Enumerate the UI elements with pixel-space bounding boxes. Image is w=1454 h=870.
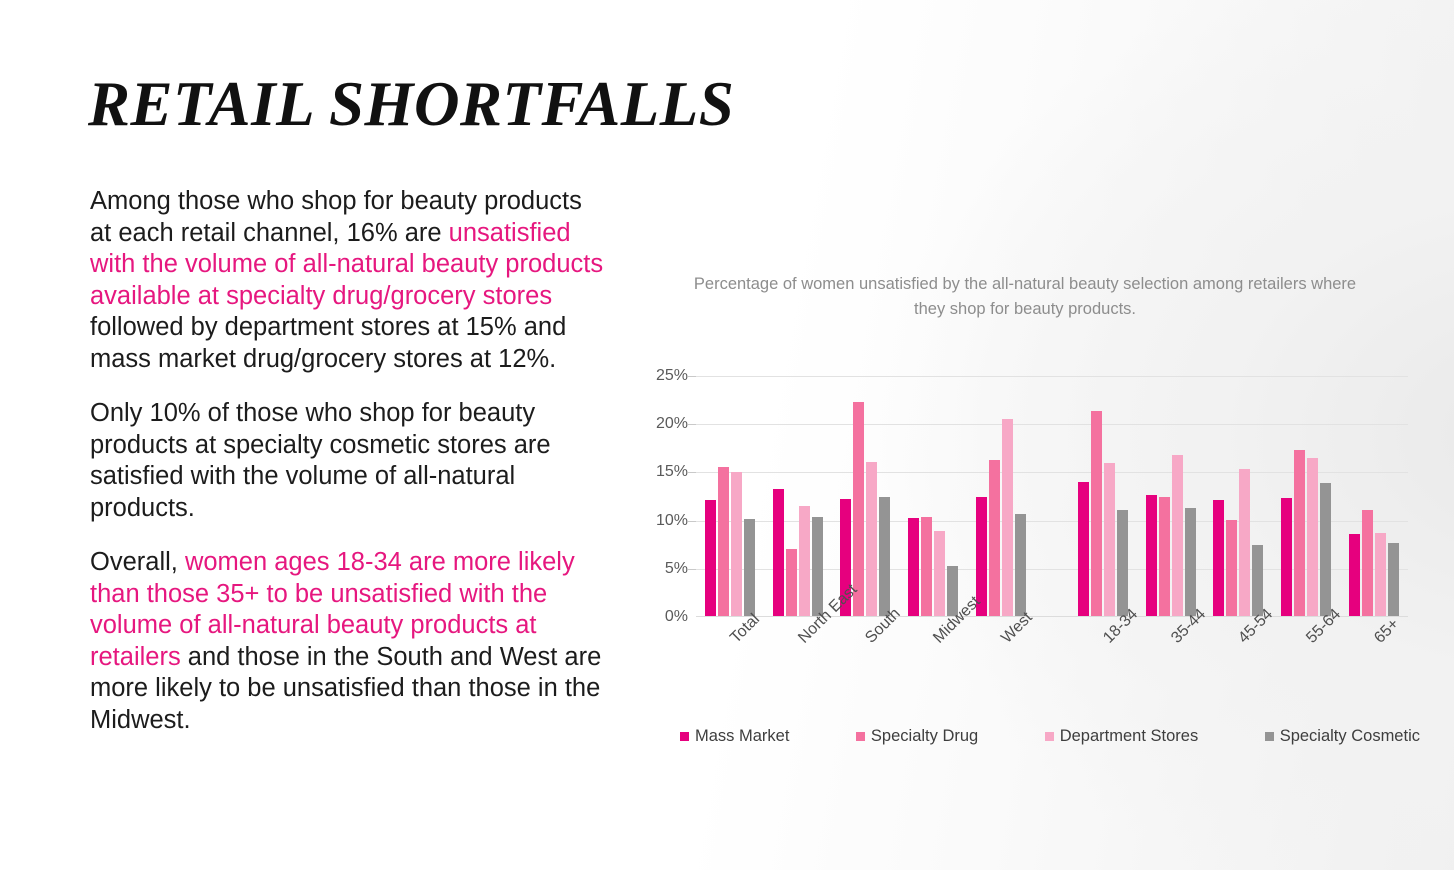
bar bbox=[989, 460, 1000, 617]
bar bbox=[879, 497, 890, 618]
bar bbox=[1117, 510, 1128, 617]
page-title: RETAIL SHORTFALLS bbox=[88, 68, 734, 141]
bar bbox=[1226, 520, 1237, 617]
body-copy: Among those who shop for beauty products… bbox=[90, 186, 610, 759]
bar bbox=[1104, 463, 1115, 617]
legend-label: Specialty Drug bbox=[871, 727, 978, 746]
bar bbox=[731, 472, 742, 617]
y-tick-label: 15% bbox=[640, 463, 688, 481]
chart-plot-area: 25%20%15%10%5%0% TotalNorth EastSouthMid… bbox=[638, 376, 1408, 636]
bar bbox=[1002, 419, 1013, 617]
bar bbox=[1349, 534, 1360, 617]
legend-item[interactable]: Specialty Cosmetic bbox=[1265, 727, 1420, 746]
bar-group bbox=[764, 376, 832, 617]
x-spacer bbox=[1035, 621, 1069, 711]
bar bbox=[1294, 450, 1305, 617]
bar-group bbox=[1340, 376, 1408, 617]
legend-swatch-icon bbox=[1265, 732, 1274, 741]
bar-group bbox=[1137, 376, 1205, 617]
x-tick: West bbox=[967, 621, 1035, 711]
bar bbox=[718, 467, 729, 617]
legend-item[interactable]: Department Stores bbox=[1045, 727, 1198, 746]
x-tick: 45-54 bbox=[1205, 621, 1273, 711]
legend-label: Department Stores bbox=[1060, 727, 1198, 746]
y-axis: 25%20%15%10%5%0% bbox=[638, 376, 688, 617]
bar bbox=[1388, 543, 1399, 617]
bar bbox=[1362, 510, 1373, 617]
bar-group bbox=[832, 376, 900, 617]
p1-part-c: followed by department stores at 15% and… bbox=[90, 313, 566, 373]
chart-subtitle: Percentage of women unsatisfied by the a… bbox=[685, 272, 1365, 322]
bar-group bbox=[1069, 376, 1137, 617]
bar bbox=[866, 462, 877, 617]
bar bbox=[1146, 495, 1157, 617]
legend-item[interactable]: Specialty Drug bbox=[856, 727, 978, 746]
plot bbox=[696, 376, 1408, 617]
bar bbox=[773, 489, 784, 617]
x-tick-label: 65+ bbox=[1371, 615, 1403, 647]
bar-group bbox=[1205, 376, 1273, 617]
y-tick-mark bbox=[688, 472, 696, 473]
bar bbox=[744, 519, 755, 617]
bar bbox=[812, 517, 823, 617]
bar bbox=[921, 517, 932, 617]
x-tick: North East bbox=[764, 621, 832, 711]
y-tick-label: 25% bbox=[640, 367, 688, 385]
y-tick-mark bbox=[688, 376, 696, 377]
legend-swatch-icon bbox=[856, 732, 865, 741]
bar bbox=[1172, 455, 1183, 617]
y-tick-label: 20% bbox=[640, 415, 688, 433]
legend-swatch-icon bbox=[1045, 732, 1054, 741]
bar-group bbox=[1272, 376, 1340, 617]
bar-group bbox=[899, 376, 967, 617]
bar bbox=[1375, 533, 1386, 617]
bar bbox=[1185, 508, 1196, 617]
bar bbox=[1307, 458, 1318, 617]
x-tick: South bbox=[832, 621, 900, 711]
bar bbox=[853, 402, 864, 617]
legend-label: Mass Market bbox=[695, 727, 789, 746]
x-tick: Midwest bbox=[899, 621, 967, 711]
bar bbox=[1159, 497, 1170, 617]
bar bbox=[1015, 514, 1026, 617]
paragraph-2: Only 10% of those who shop for beauty pr… bbox=[90, 398, 610, 524]
y-tick-label: 10% bbox=[640, 512, 688, 530]
bar bbox=[908, 518, 919, 617]
y-tick-mark bbox=[688, 424, 696, 425]
bar bbox=[705, 500, 716, 617]
bar bbox=[1091, 411, 1102, 617]
x-axis: TotalNorth EastSouthMidwestWest18-3435-4… bbox=[696, 621, 1408, 711]
bar bbox=[786, 549, 797, 617]
chart: Percentage of women unsatisfied by the a… bbox=[620, 272, 1420, 782]
bar bbox=[1320, 483, 1331, 617]
bar bbox=[1078, 482, 1089, 617]
y-tick-mark bbox=[688, 569, 696, 570]
legend-item[interactable]: Mass Market bbox=[680, 727, 789, 746]
x-tick: 35-44 bbox=[1137, 621, 1205, 711]
bar bbox=[934, 531, 945, 617]
bar bbox=[799, 506, 810, 617]
x-tick: 65+ bbox=[1340, 621, 1408, 711]
bar bbox=[1239, 469, 1250, 617]
axis-baseline bbox=[696, 616, 1408, 618]
y-tick-mark bbox=[688, 521, 696, 522]
y-tick-label: 5% bbox=[640, 560, 688, 578]
x-tick: 55-64 bbox=[1272, 621, 1340, 711]
y-tick-label: 0% bbox=[640, 608, 688, 626]
bar bbox=[1281, 498, 1292, 617]
slide: RETAIL SHORTFALLS Among those who shop f… bbox=[0, 0, 1454, 870]
x-tick: 18-34 bbox=[1069, 621, 1137, 711]
legend-swatch-icon bbox=[680, 732, 689, 741]
bar-groups bbox=[696, 376, 1408, 617]
bar bbox=[1213, 500, 1224, 617]
chart-legend: Mass MarketSpecialty DrugDepartment Stor… bbox=[680, 727, 1420, 746]
p3-part-a: Overall, bbox=[90, 548, 185, 576]
group-spacer bbox=[1035, 376, 1069, 617]
paragraph-3: Overall, women ages 18-34 are more likel… bbox=[90, 547, 610, 736]
bar-group bbox=[967, 376, 1035, 617]
bar-group bbox=[696, 376, 764, 617]
legend-label: Specialty Cosmetic bbox=[1280, 727, 1420, 746]
paragraph-1: Among those who shop for beauty products… bbox=[90, 186, 610, 375]
x-tick: Total bbox=[696, 621, 764, 711]
